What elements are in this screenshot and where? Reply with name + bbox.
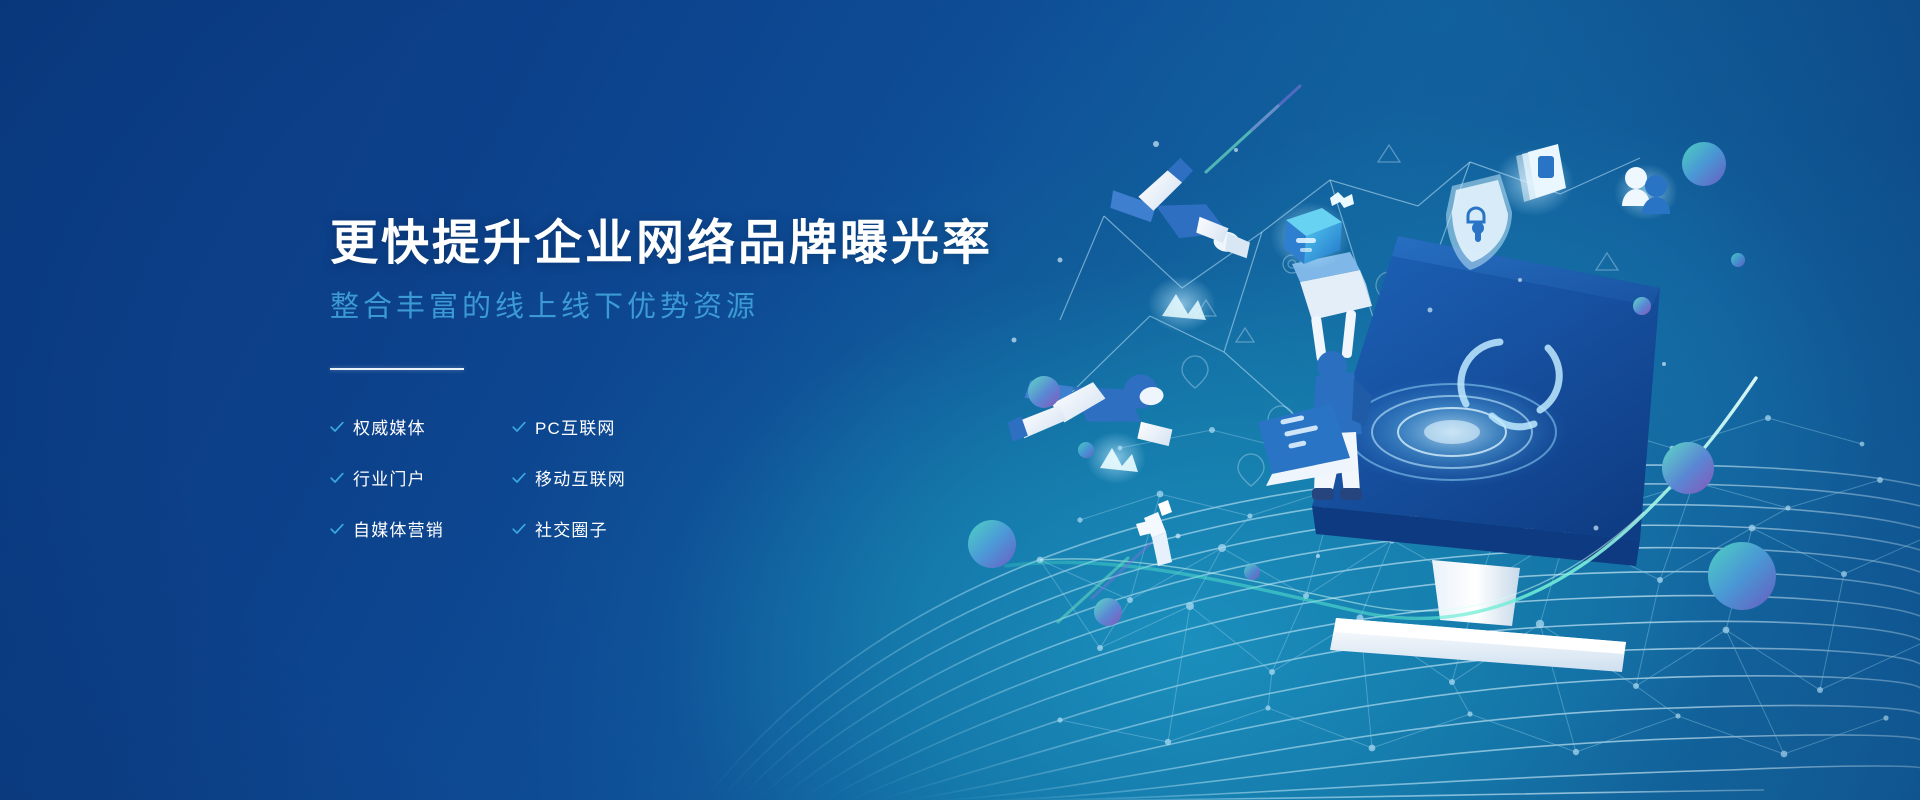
check-icon	[512, 522, 526, 536]
title-divider	[330, 368, 464, 370]
list-item: 社交圈子	[512, 516, 750, 541]
check-icon	[512, 420, 526, 434]
check-icon	[330, 471, 344, 485]
tool-figure	[1136, 500, 1172, 566]
check-icon	[512, 471, 526, 485]
check-icon	[330, 522, 344, 536]
floating-astronaut-upper	[1102, 145, 1254, 293]
check-icon	[330, 420, 344, 434]
copy-block: 更快提升企业网络品牌曝光率 整合丰富的线上线下优势资源 权威媒体 PC互联网 行…	[330, 216, 1030, 541]
list-item-label: 行业门户	[353, 465, 426, 490]
list-item-label: 权威媒体	[353, 414, 426, 439]
page-title: 更快提升企业网络品牌曝光率	[330, 216, 1030, 272]
list-item: 移动互联网	[512, 465, 750, 490]
hero-illustration	[1000, 120, 1760, 680]
list-item-label: 社交圈子	[535, 516, 608, 541]
list-item: PC互联网	[512, 414, 750, 439]
list-item: 权威媒体	[330, 414, 512, 439]
list-item: 行业门户	[330, 465, 512, 490]
feature-list: 权威媒体 PC互联网 行业门户 移动互联网 自媒体营销 社交圈子	[330, 414, 750, 541]
list-item-label: 自媒体营销	[353, 516, 444, 541]
list-item: 自媒体营销	[330, 516, 512, 541]
user-group-icon	[1614, 164, 1678, 220]
list-item-label: PC互联网	[535, 414, 616, 439]
hero-banner: 更快提升企业网络品牌曝光率 整合丰富的线上线下优势资源 权威媒体 PC互联网 行…	[0, 0, 1920, 800]
card-stack-icon	[1494, 144, 1574, 216]
list-item-label: 移动互联网	[535, 465, 626, 490]
page-subtitle: 整合丰富的线上线下优势资源	[330, 290, 1030, 325]
